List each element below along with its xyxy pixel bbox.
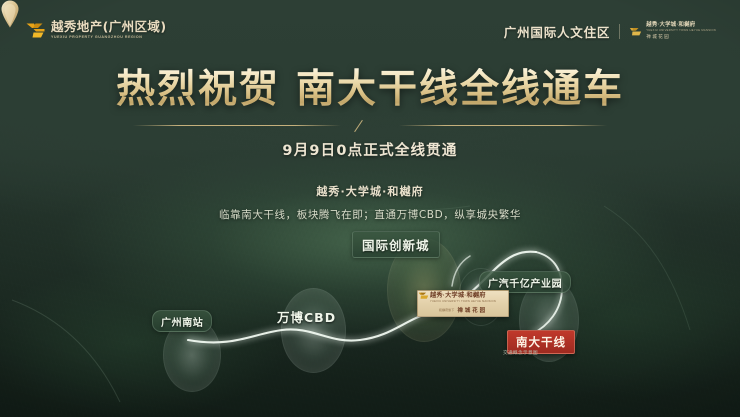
- map-label-guangzhou-south-station[interactable]: 广州南站: [152, 310, 212, 332]
- plaque-bottom-row: 和樾府旗下 禅城花园: [439, 306, 487, 314]
- route-north-connector: [452, 256, 470, 286]
- plaque-line2: YUEXIU UNIVERSITY TOWN HEYUE MANSION: [430, 301, 496, 304]
- project-logo: 越秀·大学城·和樾府 YUEXIU UNIVERSITY TOWN HEYUE …: [629, 23, 716, 40]
- project-logo-line3: 禅城花园: [646, 35, 716, 40]
- map-badge-disclaimer: 交通概念示意图: [503, 350, 538, 356]
- poster-header: 越秀地产(广州区域) YUEXIU PROPERTY GUANGZHOU REG…: [0, 0, 740, 56]
- poster-stage: 越秀地产(广州区域) YUEXIU PROPERTY GUANGZHOU REG…: [0, 0, 740, 417]
- project-logo-text: 越秀·大学城·和樾府 YUEXIU UNIVERSITY TOWN HEYUE …: [646, 23, 716, 40]
- hero-title-block: 热烈祝贺南大干线全线通车 9月9日0点正式全线贯通 越秀·大学城·和樾府 临靠南…: [0, 68, 740, 222]
- header-right-title: 广州国际人文住区: [504, 22, 610, 41]
- hero-title-part1: 热烈祝贺: [116, 66, 280, 112]
- header-divider: [619, 24, 620, 39]
- terrain-road-b: [604, 206, 690, 330]
- brand-text: 越秀地产(广州区域) YUEXIU PROPERTY GUANGZHOU REG…: [51, 21, 166, 40]
- map-project-plaque[interactable]: 越秀·大学城·和樾府 YUEXIU UNIVERSITY TOWN HEYUE …: [417, 290, 509, 317]
- plaque-top-row: 越秀·大学城·和樾府 YUEXIU UNIVERSITY TOWN HEYUE …: [430, 293, 496, 303]
- plaque-line3-prefix: 和樾府旗下: [439, 308, 454, 312]
- title-divider-rule: [133, 119, 607, 133]
- header-right: 广州国际人文住区 越秀·大学城·和樾府 YUEXIU UNIVERSITY TO…: [504, 22, 716, 41]
- divider-line-right: [399, 125, 607, 126]
- yuexiu-crown-mark-icon: [418, 291, 429, 300]
- divider-slash: [354, 120, 363, 132]
- plaque-text-column: 越秀·大学城·和樾府 YUEXIU UNIVERSITY TOWN HEYUE …: [430, 293, 496, 303]
- map-label-wanbo-cbd[interactable]: 万博CBD: [268, 304, 345, 329]
- route-east-branch: [532, 252, 562, 334]
- hero-main-title: 热烈祝贺南大干线全线通车: [0, 68, 740, 112]
- hero-project-desc: 临靠南大干线，板块腾飞在即；直通万博CBD，纵享城央繁华: [0, 207, 740, 222]
- yuexiu-crown-mark-icon: [629, 26, 642, 37]
- plaque-line3: 禅城花园: [457, 306, 487, 314]
- hero-title-part2: 南大干线全线通车: [296, 66, 624, 112]
- brand-name-cn: 越秀地产(广州区域): [51, 21, 166, 34]
- map-label-international-innovation-city[interactable]: 国际创新城: [352, 231, 440, 258]
- hero-subtitle: 9月9日0点正式全线贯通: [0, 139, 740, 160]
- terrain-road-a: [12, 300, 120, 402]
- project-logo-line2: YUEXIU UNIVERSITY TOWN HEYUE MANSION: [646, 30, 716, 33]
- hero-project-name: 越秀·大学城·和樾府: [0, 183, 740, 199]
- yuexiu-y-mark-icon: [26, 22, 45, 39]
- project-logo-line1: 越秀·大学城·和樾府: [646, 23, 716, 28]
- plaque-line1: 越秀·大学城·和樾府: [430, 293, 496, 299]
- brand-logo: 越秀地产(广州区域) YUEXIU PROPERTY GUANGZHOU REG…: [26, 21, 166, 40]
- brand-name-en: YUEXIU PROPERTY GUANGZHOU REGION: [51, 36, 166, 40]
- divider-line-left: [133, 125, 341, 126]
